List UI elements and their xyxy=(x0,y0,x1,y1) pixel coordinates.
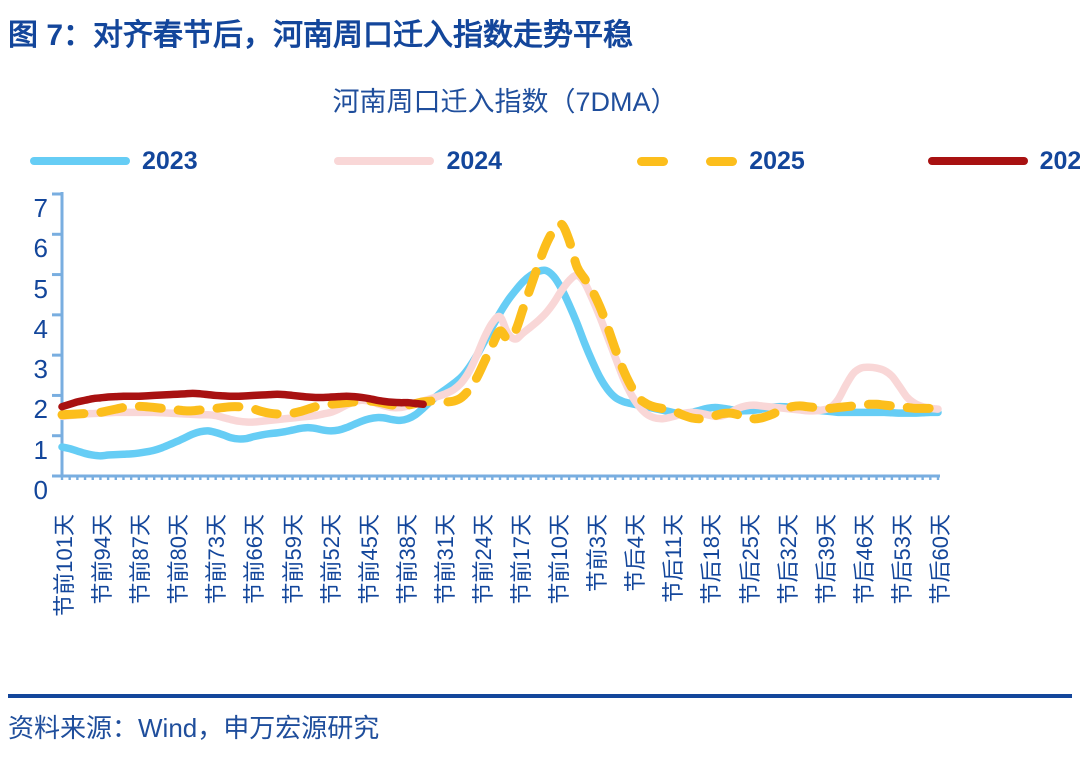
x-tick-23: 节后60天 xyxy=(930,514,952,604)
x-tick-9: 节前38天 xyxy=(397,514,419,604)
x-tick-21: 节后46天 xyxy=(854,514,876,604)
legend-swatch-2026 xyxy=(928,157,1028,165)
x-tick-15: 节后4天 xyxy=(625,514,647,592)
y-tick-0: 0 xyxy=(8,477,48,503)
x-tick-8: 节前45天 xyxy=(359,514,381,604)
x-tick-19: 节后32天 xyxy=(778,514,800,604)
chart-legend: 2023202420252026 xyxy=(30,144,980,178)
legend-item-2025[interactable]: 2025 xyxy=(637,144,805,178)
x-tick-10: 节前31天 xyxy=(435,514,457,604)
legend-item-2023[interactable]: 2023 xyxy=(30,144,198,178)
x-tick-17: 节后18天 xyxy=(701,514,723,604)
x-tick-14: 节前3天 xyxy=(587,514,609,592)
x-tick-3: 节前80天 xyxy=(168,514,190,604)
x-tick-22: 节后53天 xyxy=(892,514,914,604)
x-tick-1: 节前94天 xyxy=(92,514,114,604)
x-axis-labels: 节前101天节前94天节前87天节前80天节前73天节前66天节前59天节前52… xyxy=(0,514,1010,674)
x-tick-11: 节前24天 xyxy=(473,514,495,604)
x-tick-18: 节后25天 xyxy=(740,514,762,604)
page-title: 图 7：对齐春节后，河南周口迁入指数走势平稳 xyxy=(8,8,1068,56)
x-tick-16: 节后11天 xyxy=(663,514,685,603)
x-tick-6: 节前59天 xyxy=(283,514,305,604)
plot-area xyxy=(0,180,1010,480)
x-tick-20: 节后39天 xyxy=(816,514,838,604)
x-tick-13: 节前10天 xyxy=(549,514,571,604)
x-tick-2: 节前87天 xyxy=(130,514,152,604)
footer-divider xyxy=(8,694,1072,698)
legend-swatch-2024 xyxy=(334,157,434,165)
chart-container: 河南周口迁入指数（7DMA） 2023202420252026 01234567… xyxy=(0,62,1080,682)
x-tick-4: 节前73天 xyxy=(206,514,228,604)
source-note: 资料来源：Wind，申万宏源研究 xyxy=(8,708,379,745)
legend-item-2024[interactable]: 2024 xyxy=(334,144,502,178)
x-tick-0: 节前101天 xyxy=(54,514,76,617)
legend-swatch-2023 xyxy=(30,157,130,165)
legend-label-2025: 2025 xyxy=(749,149,805,174)
x-tick-5: 节前66天 xyxy=(244,514,266,604)
legend-item-2026[interactable]: 2026 xyxy=(928,144,1080,178)
x-tick-12: 节前17天 xyxy=(511,514,533,604)
legend-swatch-2025 xyxy=(637,157,737,166)
chart-title: 河南周口迁入指数（7DMA） xyxy=(0,80,1010,119)
x-tick-7: 节前52天 xyxy=(321,514,343,604)
legend-label-2026: 2026 xyxy=(1040,149,1080,174)
line-chart-svg xyxy=(0,180,1010,480)
series-line-2024 xyxy=(62,275,938,422)
legend-label-2024: 2024 xyxy=(446,149,502,174)
series-line-2023 xyxy=(62,270,938,456)
legend-label-2023: 2023 xyxy=(142,149,198,174)
